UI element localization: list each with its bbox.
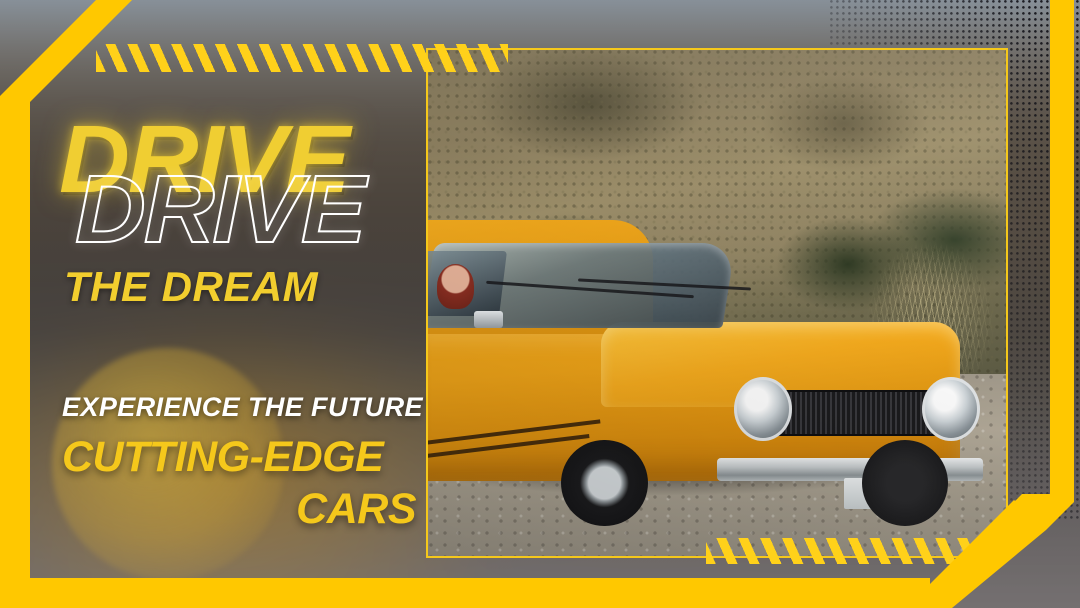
car-driver bbox=[437, 264, 475, 309]
subcopy-block: EXPERIENCE THE FUTURE CUTTING-EDGE CARS bbox=[62, 392, 432, 532]
car-headlight-left bbox=[734, 377, 792, 441]
diagonal-stripe-band-bottom bbox=[706, 538, 974, 564]
car-rear-wheel bbox=[862, 440, 949, 527]
photo-car bbox=[428, 237, 983, 520]
subcopy-eyebrow: EXPERIENCE THE FUTURE bbox=[62, 392, 432, 422]
car-headlight-right bbox=[922, 377, 980, 441]
page-subtitle: THE DREAM bbox=[64, 266, 318, 308]
subcopy-line-2: CARS bbox=[62, 486, 432, 532]
headline-block: DRIVE DRIVE THE DREAM bbox=[62, 112, 422, 262]
car-side-mirror bbox=[474, 311, 503, 328]
hero-photo bbox=[428, 50, 1006, 556]
drive-title-stack: DRIVE DRIVE bbox=[62, 112, 422, 262]
diagonal-stripe-band-top bbox=[96, 44, 508, 72]
banner-stage: DRIVE DRIVE THE DREAM EXPERIENCE THE FUT… bbox=[0, 0, 1080, 608]
page-title-outline: DRIVE bbox=[75, 162, 364, 258]
car-front-wheel bbox=[561, 440, 648, 527]
hero-photo-card bbox=[426, 48, 1008, 558]
subcopy-line-1: CUTTING-EDGE bbox=[62, 434, 432, 480]
